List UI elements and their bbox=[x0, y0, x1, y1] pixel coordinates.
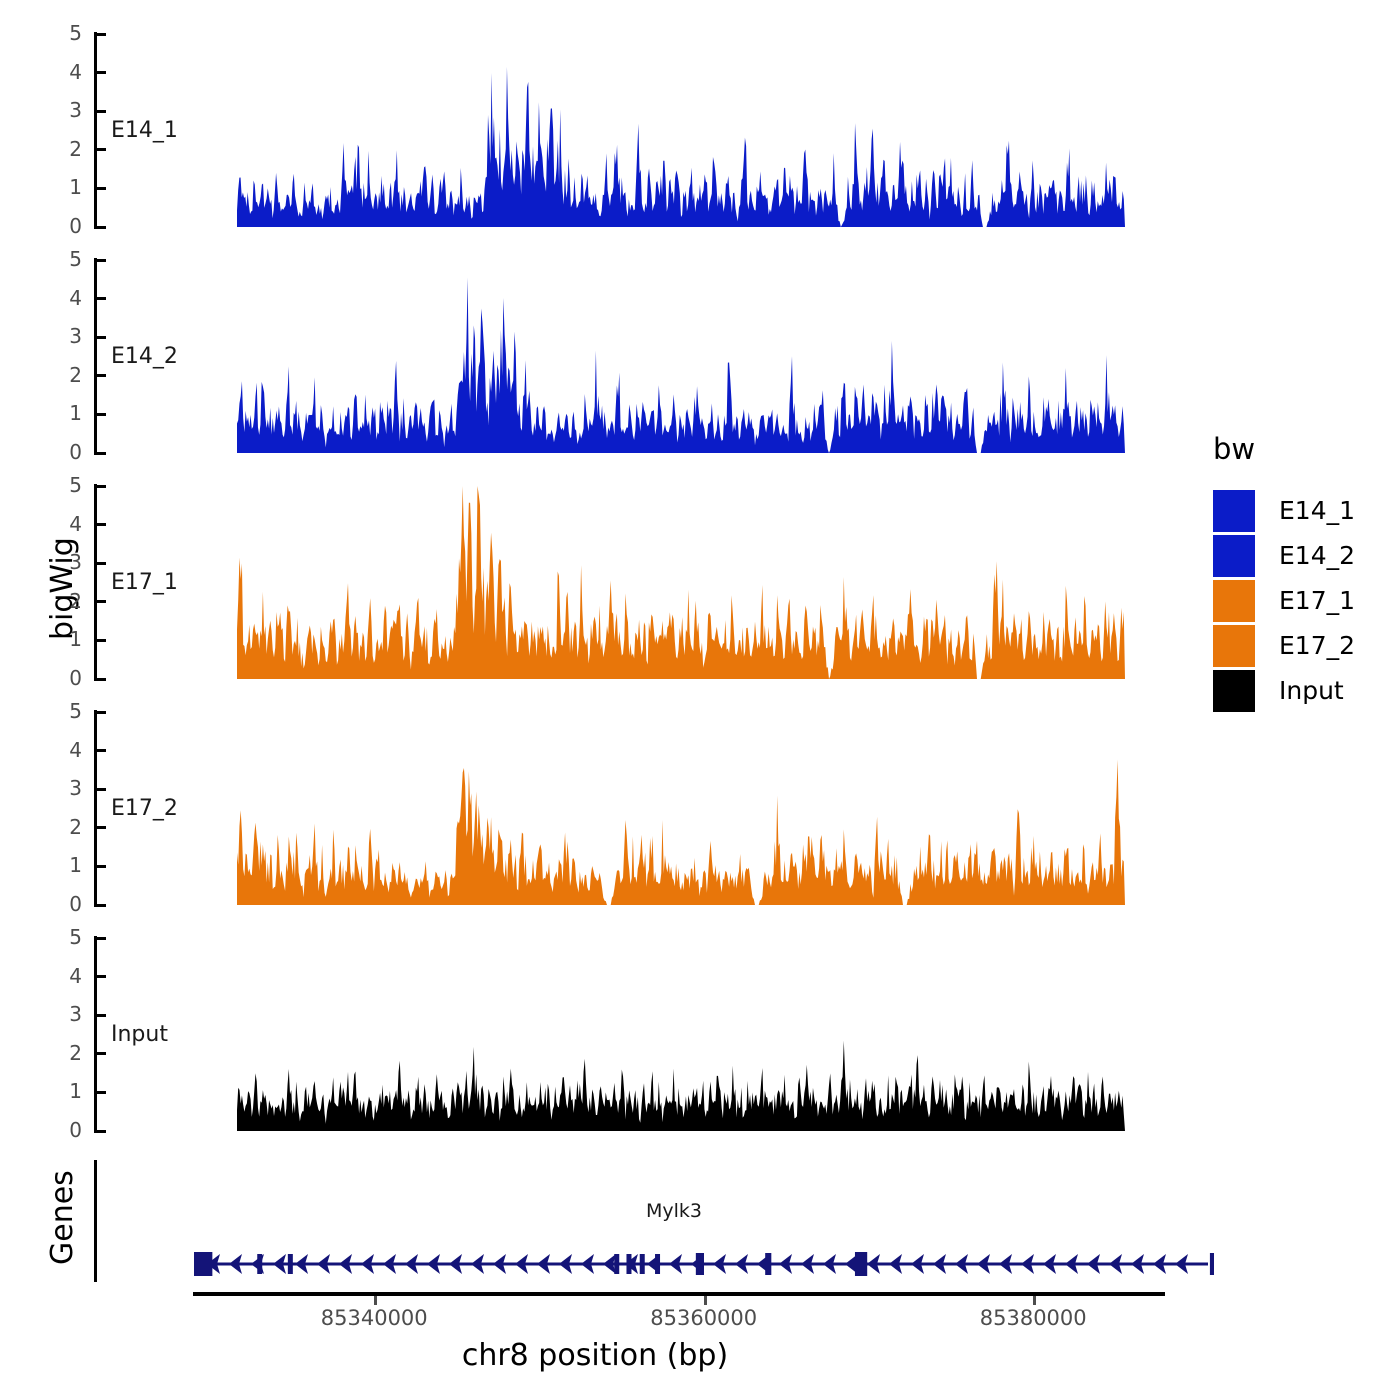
y-tick-label: 2 bbox=[32, 591, 82, 611]
track-label-e17_1: E17_1 bbox=[111, 570, 178, 595]
legend-item-label: E17_1 bbox=[1279, 586, 1355, 615]
track-e17_1: 012345E17_1 bbox=[0, 484, 1190, 681]
y-tick-label: 1 bbox=[32, 855, 82, 875]
legend-item-e17_1[interactable]: E17_1 bbox=[1213, 578, 1355, 623]
y-axis-line bbox=[94, 32, 97, 229]
y-tick-mark bbox=[97, 1014, 106, 1017]
y-tick-mark bbox=[97, 788, 106, 791]
gene-name-label: Mylk3 bbox=[594, 1200, 754, 1222]
y-tick-mark bbox=[97, 452, 106, 455]
y-tick-label: 4 bbox=[32, 740, 82, 760]
x-tick-mark bbox=[704, 1296, 707, 1305]
legend-item-e14_2[interactable]: E14_2 bbox=[1213, 533, 1355, 578]
legend-item-label: E17_2 bbox=[1279, 631, 1355, 660]
y-tick-mark bbox=[97, 826, 106, 829]
y-tick-mark bbox=[97, 749, 106, 752]
track-label-input: Input bbox=[111, 1022, 168, 1047]
gene-exon-block bbox=[655, 1254, 660, 1274]
y-tick-mark bbox=[97, 336, 106, 339]
y-tick-mark bbox=[97, 374, 106, 377]
legend-item-e17_2[interactable]: E17_2 bbox=[1213, 623, 1355, 668]
track-label-e17_2: E17_2 bbox=[111, 796, 178, 821]
y-tick-label: 1 bbox=[32, 177, 82, 197]
coverage-area bbox=[237, 1041, 1125, 1131]
y-tick-mark bbox=[97, 975, 106, 978]
gene-exon-block bbox=[765, 1253, 771, 1275]
y-tick-mark bbox=[97, 523, 106, 526]
y-tick-label: 3 bbox=[32, 552, 82, 572]
track-e14_1: 012345E14_1 bbox=[0, 32, 1190, 229]
y-tick-label: 3 bbox=[32, 100, 82, 120]
y-tick-mark bbox=[97, 259, 106, 262]
y-tick-label: 5 bbox=[32, 23, 82, 43]
track-input: 012345Input bbox=[0, 936, 1190, 1133]
y-tick-label: 4 bbox=[32, 288, 82, 308]
gene-exon-block bbox=[257, 1254, 262, 1274]
y-tick-mark bbox=[97, 600, 106, 603]
gene-exon-block bbox=[640, 1254, 645, 1274]
y-tick-mark bbox=[97, 562, 106, 565]
legend-item-label: Input bbox=[1279, 676, 1344, 705]
y-tick-label: 3 bbox=[32, 778, 82, 798]
x-axis-line bbox=[193, 1292, 1165, 1296]
y-tick-mark bbox=[97, 297, 106, 300]
y-tick-label: 4 bbox=[32, 966, 82, 986]
legend-item-e14_1[interactable]: E14_1 bbox=[1213, 488, 1355, 533]
genes-axis-line bbox=[94, 1160, 97, 1282]
legend-items: E14_1E14_2E17_1E17_2Input bbox=[1213, 488, 1355, 713]
y-tick-mark bbox=[97, 71, 106, 74]
y-tick-label: 2 bbox=[32, 817, 82, 837]
y-tick-label: 1 bbox=[32, 629, 82, 649]
gene-exon-block bbox=[855, 1252, 867, 1276]
y-tick-mark bbox=[97, 226, 106, 229]
y-tick-label: 1 bbox=[32, 1081, 82, 1101]
y-tick-mark bbox=[97, 711, 106, 714]
track-e14_2: 012345E14_2 bbox=[0, 258, 1190, 455]
y-tick-label: 0 bbox=[32, 894, 82, 914]
y-tick-mark bbox=[97, 187, 106, 190]
gene-exon-block bbox=[696, 1253, 704, 1275]
y-tick-label: 0 bbox=[32, 668, 82, 688]
signal-area-e17_1[interactable] bbox=[237, 484, 1125, 681]
y-tick-mark bbox=[97, 1091, 106, 1094]
y-axis-line bbox=[94, 936, 97, 1133]
x-axis-title: chr8 position (bp) bbox=[0, 1338, 1190, 1373]
y-tick-mark bbox=[97, 148, 106, 151]
signal-svg bbox=[237, 32, 1125, 229]
y-tick-label: 5 bbox=[32, 475, 82, 495]
y-tick-label: 0 bbox=[32, 216, 82, 236]
signal-area-e17_2[interactable] bbox=[237, 710, 1125, 907]
track-label-e14_2: E14_2 bbox=[111, 344, 178, 369]
y-tick-mark bbox=[97, 1130, 106, 1133]
coverage-area bbox=[237, 67, 1125, 227]
track-label-e14_1: E14_1 bbox=[111, 118, 178, 143]
signal-svg bbox=[237, 258, 1125, 455]
coverage-area bbox=[237, 486, 1125, 679]
y-tick-mark bbox=[97, 678, 106, 681]
x-tick-mark bbox=[1033, 1296, 1036, 1305]
genes-axis-title: Genes bbox=[45, 1170, 80, 1265]
y-tick-label: 2 bbox=[32, 365, 82, 385]
legend-item-input[interactable]: Input bbox=[1213, 668, 1355, 713]
legend-item-label: E14_1 bbox=[1279, 496, 1355, 525]
y-tick-label: 0 bbox=[32, 442, 82, 462]
y-tick-mark bbox=[97, 904, 106, 907]
gene-exon-block bbox=[614, 1254, 619, 1274]
legend-color-swatch bbox=[1213, 580, 1255, 622]
gene-exon-block bbox=[626, 1254, 631, 1274]
y-tick-label: 5 bbox=[32, 249, 82, 269]
x-tick-label: 85360000 bbox=[604, 1308, 804, 1329]
gene-model[interactable] bbox=[194, 1248, 1214, 1280]
y-axis-line bbox=[94, 258, 97, 455]
y-tick-label: 5 bbox=[32, 927, 82, 947]
y-tick-label: 3 bbox=[32, 1004, 82, 1024]
y-tick-label: 1 bbox=[32, 403, 82, 423]
coverage-area bbox=[237, 759, 1125, 905]
signal-svg bbox=[237, 710, 1125, 907]
x-tick-label: 85340000 bbox=[274, 1308, 474, 1329]
legend-item-label: E14_2 bbox=[1279, 541, 1355, 570]
y-tick-mark bbox=[97, 865, 106, 868]
gene-exon-block bbox=[194, 1252, 212, 1276]
signal-area-e14_1[interactable] bbox=[237, 32, 1125, 229]
legend-color-swatch bbox=[1213, 535, 1255, 577]
x-tick-label: 85380000 bbox=[933, 1308, 1133, 1329]
track-e17_2: 012345E17_2 bbox=[0, 710, 1190, 907]
legend: bw E14_1E14_2E17_1E17_2Input bbox=[1213, 432, 1355, 713]
gene-model-svg bbox=[194, 1248, 1214, 1280]
y-tick-label: 4 bbox=[32, 514, 82, 534]
y-tick-mark bbox=[97, 413, 106, 416]
gene-exon-block bbox=[1210, 1253, 1214, 1275]
legend-color-swatch bbox=[1213, 490, 1255, 532]
y-tick-label: 0 bbox=[32, 1120, 82, 1140]
gene-track-panel: Mylk3 bbox=[94, 1160, 1174, 1290]
y-tick-label: 4 bbox=[32, 62, 82, 82]
y-tick-label: 3 bbox=[32, 326, 82, 346]
legend-color-swatch bbox=[1213, 670, 1255, 712]
y-tick-label: 2 bbox=[32, 139, 82, 159]
y-tick-mark bbox=[97, 1052, 106, 1055]
figure-root: bigWig Genes 012345E14_1012345E14_201234… bbox=[0, 0, 1400, 1400]
y-tick-mark bbox=[97, 33, 106, 36]
y-axis-line bbox=[94, 484, 97, 681]
gene-exon-block bbox=[288, 1254, 293, 1274]
y-tick-label: 2 bbox=[32, 1043, 82, 1063]
y-tick-mark bbox=[97, 937, 106, 940]
y-axis-line bbox=[94, 710, 97, 907]
y-tick-mark bbox=[97, 110, 106, 113]
signal-area-input[interactable] bbox=[237, 936, 1125, 1133]
y-tick-mark bbox=[97, 639, 106, 642]
x-tick-mark bbox=[374, 1296, 377, 1305]
legend-title: bw bbox=[1213, 432, 1355, 466]
legend-color-swatch bbox=[1213, 625, 1255, 667]
y-tick-mark bbox=[97, 485, 106, 488]
coverage-area bbox=[237, 278, 1125, 453]
signal-svg bbox=[237, 936, 1125, 1133]
signal-area-e14_2[interactable] bbox=[237, 258, 1125, 455]
y-tick-label: 5 bbox=[32, 701, 82, 721]
signal-svg bbox=[237, 484, 1125, 681]
